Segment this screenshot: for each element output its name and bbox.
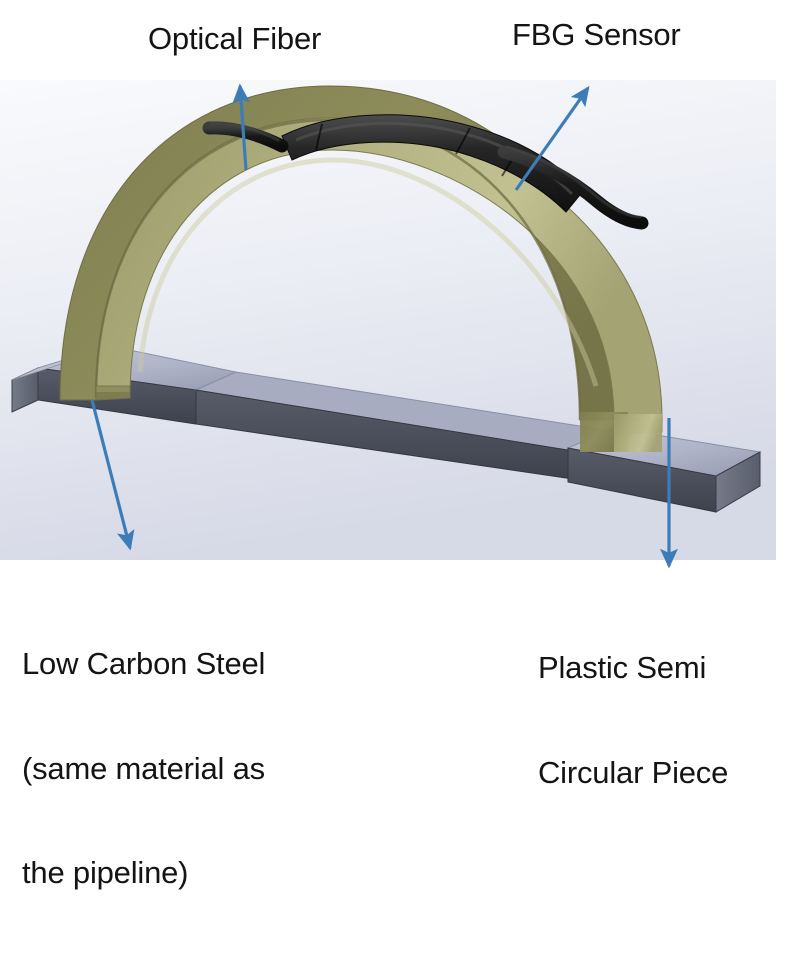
label-optical-fiber: Optical Fiber	[148, 22, 321, 57]
label-low-carbon-steel-line-2: (same material as	[22, 752, 265, 787]
label-low-carbon-steel-line-3: the pipeline)	[22, 856, 265, 891]
label-low-carbon-steel-line-1: Low Carbon Steel	[22, 647, 265, 682]
label-plastic-semi-line-1: Plastic Semi	[538, 651, 728, 686]
label-fbg-sensor: FBG Sensor	[512, 18, 681, 53]
figure-canvas: Optical Fiber FBG Sensor Low Carbon Stee…	[0, 0, 800, 717]
label-plastic-semi-circular-piece: Plastic Semi Circular Piece	[538, 582, 728, 860]
label-plastic-semi-line-2: Circular Piece	[538, 756, 728, 791]
label-low-carbon-steel: Low Carbon Steel (same material as the p…	[22, 578, 265, 960]
